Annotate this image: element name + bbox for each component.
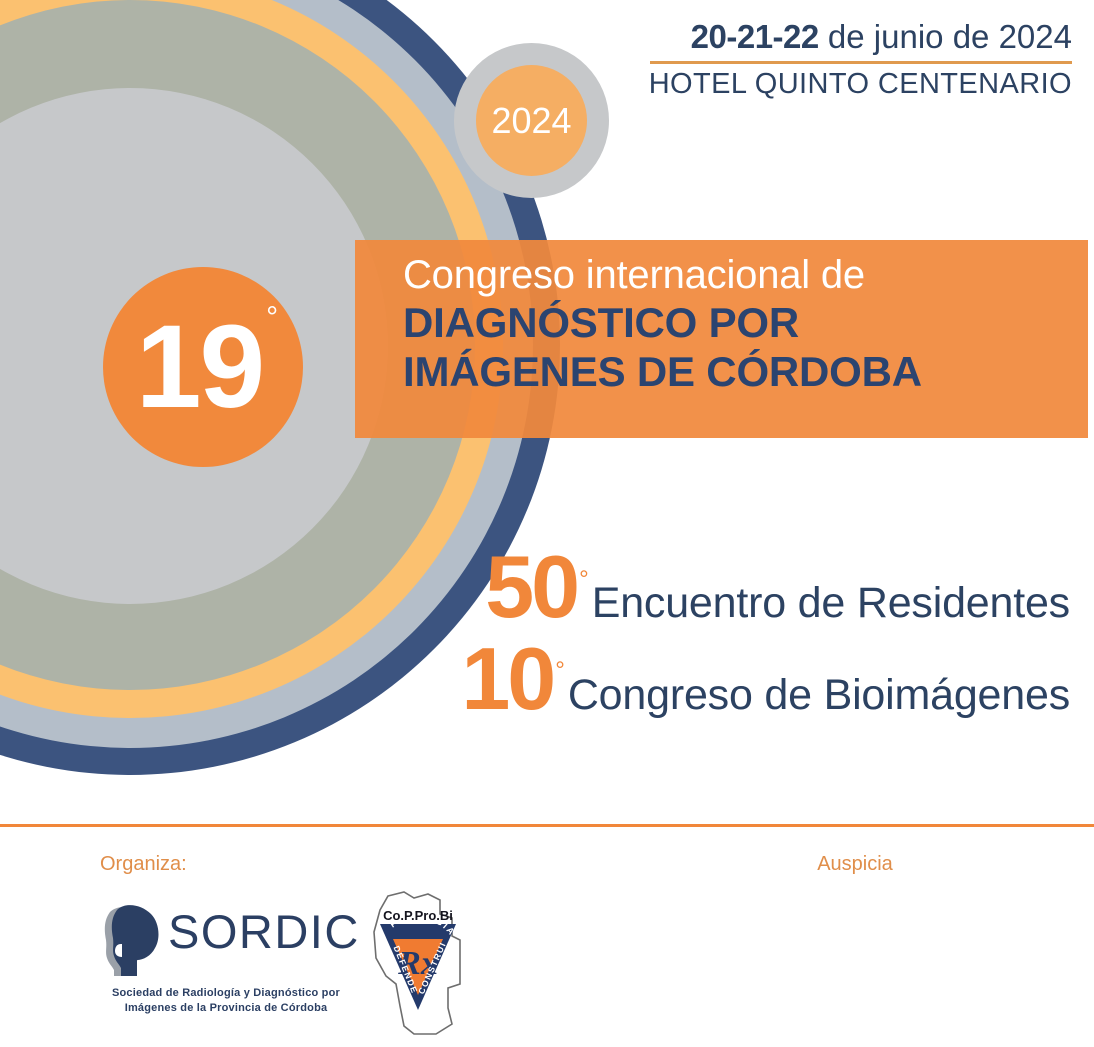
poster-canvas: 2024 20-21-22 de junio de 2024 HOTEL QUI… (0, 0, 1094, 1047)
event-date-rest: de junio de 2024 (819, 18, 1072, 55)
sordic-name: SORDIC (168, 908, 360, 955)
header: 20-21-22 de junio de 2024 HOTEL QUINTO C… (602, 18, 1072, 101)
event-text-bioimagenes: Congreso de Bioimágenes (568, 671, 1070, 720)
copprobi-name: Co.P.Pro.Bi (383, 908, 453, 923)
year-badge-label: 2024 (491, 103, 571, 139)
degree-icon: ° (579, 566, 589, 593)
footer-organiza-column: Organiza: SORDIC Sociedad de Radiología … (0, 840, 640, 874)
title-line-3: IMÁGENES DE CÓRDOBA (403, 347, 1088, 397)
title-line-1: Congreso internacional de (403, 253, 1088, 298)
edition-badge-number: 19 (136, 308, 263, 426)
province-shield-icon: Rx PRESTIGIAR DEFENDER CONSTRUIR (352, 888, 482, 1038)
event-text-residentes: Encuentro de Residentes (592, 579, 1070, 628)
sordic-tagline-line2: Imágenes de la Provincia de Córdoba (125, 1002, 328, 1014)
event-date: 20-21-22 de junio de 2024 (602, 18, 1072, 56)
degree-icon: ° (555, 657, 565, 684)
header-rule (650, 61, 1072, 64)
edition-badge-degree: ° (266, 303, 276, 333)
event-number-10: 10° (461, 637, 565, 721)
sordic-tagline-line1: Sociedad de Radiología y Diagnóstico por (112, 987, 340, 999)
event-number-50: 50° (485, 545, 589, 629)
event-date-days: 20-21-22 (691, 18, 819, 55)
title-line-2: DIAGNÓSTICO POR (403, 298, 1088, 348)
organiza-label: Organiza: (100, 854, 640, 874)
title-band: Congreso internacional de DIAGNÓSTICO PO… (355, 240, 1088, 438)
sordic-tagline: Sociedad de Radiología y Diagnóstico por… (100, 986, 352, 1016)
footer: Organiza: SORDIC Sociedad de Radiología … (0, 840, 1094, 1047)
head-profile-icon (100, 900, 162, 976)
footer-divider (0, 824, 1094, 827)
event-row-bioimagenes: 10° Congreso de Bioimágenes (0, 637, 1070, 721)
edition-badge-label: 19° (103, 267, 303, 467)
event-row-residentes: 50° Encuentro de Residentes (0, 545, 1070, 629)
year-badge: 2024 (476, 65, 587, 176)
copprobi-logo: Rx PRESTIGIAR DEFENDER CONSTRUIR (352, 888, 482, 1038)
auspicia-label: Auspicia (640, 854, 1070, 874)
secondary-events: 50° Encuentro de Residentes 10° Congreso… (0, 545, 1070, 720)
event-venue: HOTEL QUINTO CENTENARIO (602, 68, 1072, 101)
footer-auspicia-column: Auspicia FAARDIT Federación Argentina de… (640, 840, 1094, 874)
